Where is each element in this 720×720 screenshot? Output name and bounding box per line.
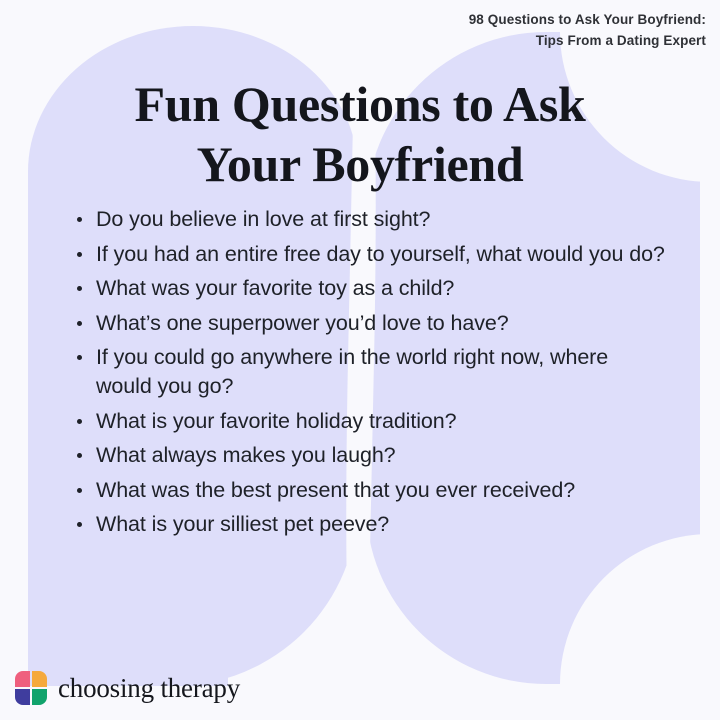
list-item: Do you believe in love at first sight?: [66, 205, 666, 234]
title-line-1: Fun Questions to Ask: [0, 74, 720, 134]
header-eyebrow: 98 Questions to Ask Your Boyfriend: Tips…: [286, 10, 706, 52]
list-item: What was the best present that you ever …: [66, 476, 666, 505]
brand-wordmark: choosing therapy: [58, 673, 240, 704]
question-list: Do you believe in love at first sight? I…: [66, 205, 666, 545]
page-title: Fun Questions to Ask Your Boyfriend: [0, 74, 720, 194]
list-item: What is your silliest pet peeve?: [66, 510, 666, 539]
footer-branding: choosing therapy: [14, 670, 240, 706]
list-item: If you could go anywhere in the world ri…: [66, 343, 666, 400]
list-item: If you had an entire free day to yoursel…: [66, 240, 666, 269]
list-item: What always makes you laugh?: [66, 441, 666, 470]
choosing-therapy-logo-icon: [14, 670, 48, 706]
list-item: What was your favorite toy as a child?: [66, 274, 666, 303]
title-line-2: Your Boyfriend: [0, 134, 720, 194]
infographic-card: 98 Questions to Ask Your Boyfriend: Tips…: [0, 0, 720, 720]
header-line-1: 98 Questions to Ask Your Boyfriend:: [286, 10, 706, 31]
list-item: What is your favorite holiday tradition?: [66, 407, 666, 436]
header-line-2: Tips From a Dating Expert: [286, 31, 706, 52]
list-item: What’s one superpower you’d love to have…: [66, 309, 666, 338]
decorative-corner-bottom-right: [560, 534, 710, 684]
